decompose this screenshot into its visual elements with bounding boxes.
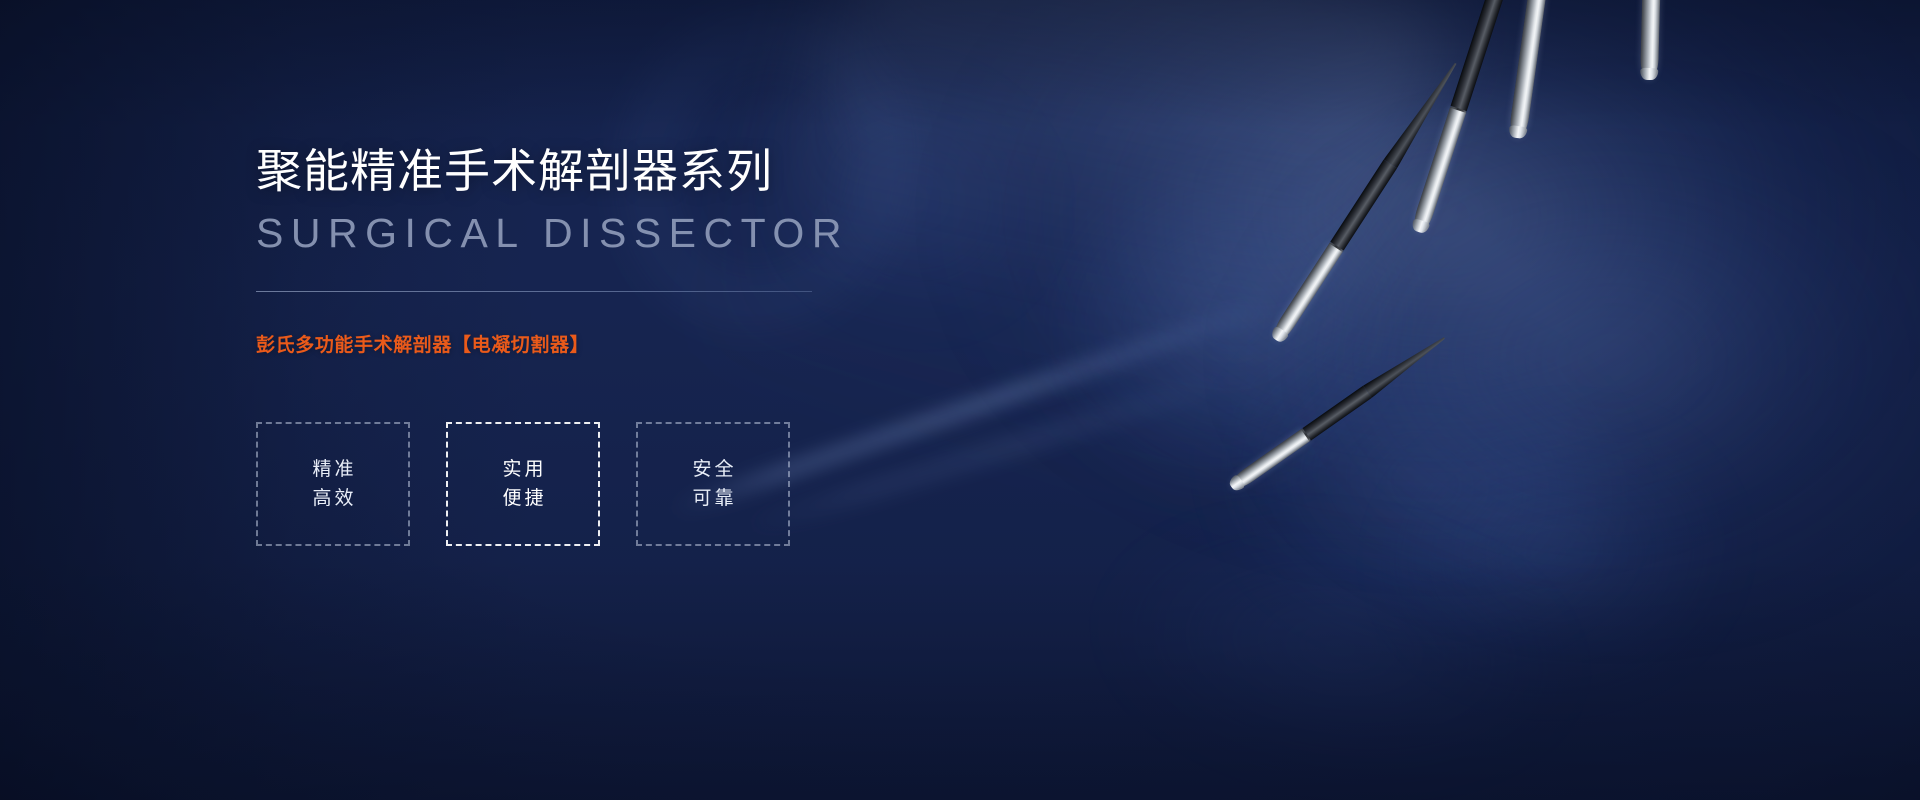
feature-line-2: 可靠: [689, 489, 736, 508]
feature-line-2: 高效: [309, 489, 356, 508]
feature-box-safety[interactable]: 安全 可靠: [636, 422, 790, 546]
divider: [256, 291, 812, 292]
feature-line-1: 精准: [309, 460, 356, 479]
page-subtitle-english: SURGICAL DISSECTOR: [256, 208, 896, 258]
product-name-label: 彭氏多功能手术解剖器【电凝切割器】: [256, 330, 896, 357]
feature-box-precision[interactable]: 精准 高效: [256, 422, 410, 546]
banner-content: 聚能精准手术解剖器系列 SURGICAL DISSECTOR 彭氏多功能手术解剖…: [256, 0, 896, 800]
feature-box-group: 精准 高效 实用 便捷 安全 可靠: [256, 422, 896, 546]
feature-line-1: 实用: [499, 460, 546, 479]
page-title: 聚能精准手术解剖器系列: [256, 143, 896, 200]
hero-banner: 聚能精准手术解剖器系列 SURGICAL DISSECTOR 彭氏多功能手术解剖…: [0, 0, 1920, 800]
feature-line-1: 安全: [689, 460, 736, 479]
feature-box-practical[interactable]: 实用 便捷: [446, 422, 600, 546]
feature-line-2: 便捷: [499, 489, 546, 508]
